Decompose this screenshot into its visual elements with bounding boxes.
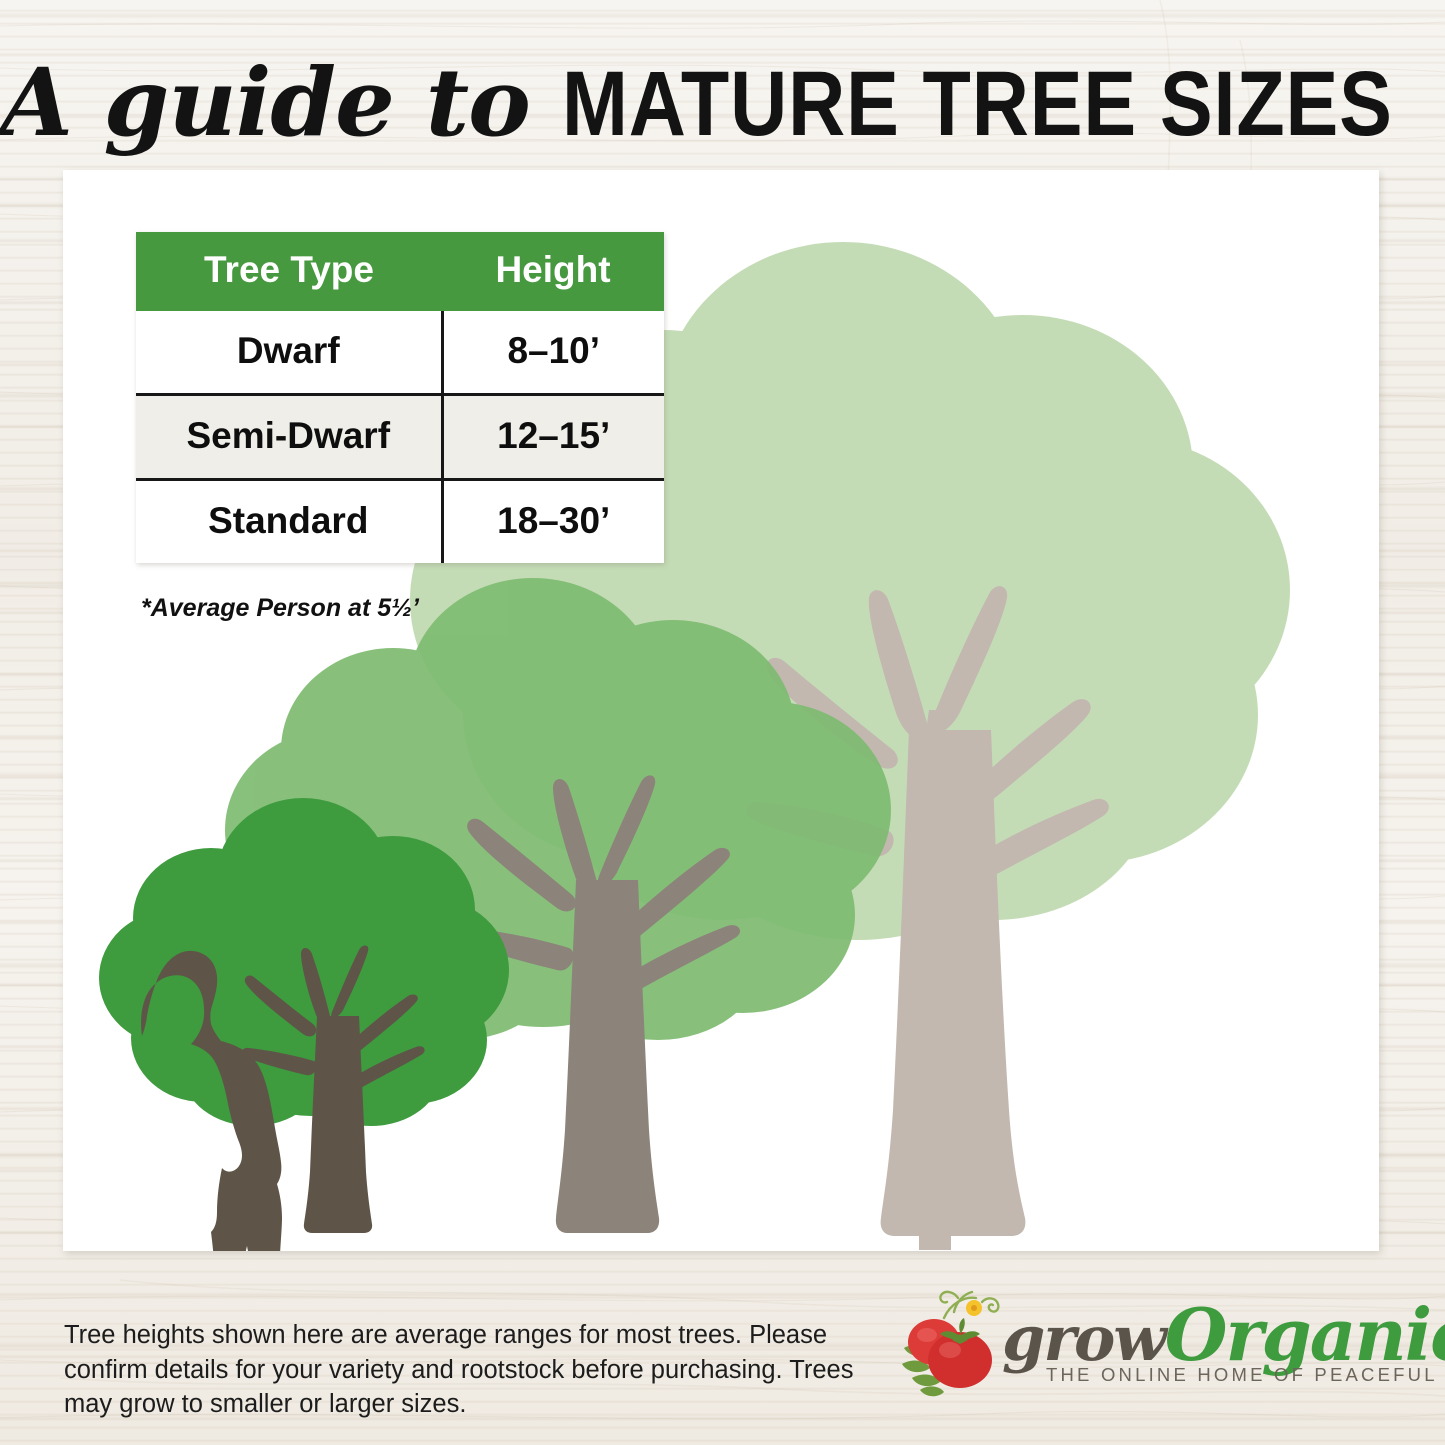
- cell-tree-type-standard: Standard: [136, 480, 442, 564]
- cell-height-semi-dwarf: 12–15’: [442, 395, 664, 480]
- dwarf-tree: [99, 798, 509, 1233]
- table-header-tree-type: Tree Type: [136, 232, 442, 311]
- table-footnote: *Average Person at 5½’: [141, 594, 419, 623]
- table-header-row: Tree Type Height: [136, 232, 664, 311]
- cell-tree-type-semi-dwarf: Semi-Dwarf: [136, 395, 442, 480]
- table-header-height: Height: [442, 232, 664, 311]
- cell-height-dwarf: 8–10’: [442, 311, 664, 395]
- logo-tagline: THE ONLINE HOME OF PEACEFUL VALLEY: [1046, 1364, 1445, 1386]
- table-row: Semi-Dwarf 12–15’: [136, 395, 664, 480]
- flower-icon: [966, 1300, 982, 1316]
- table-row: Dwarf 8–10’: [136, 311, 664, 395]
- cell-height-standard: 18–30’: [442, 480, 664, 564]
- page-title-block: MATURE TREE SIZES: [562, 52, 1393, 157]
- page-title-script: A guide to: [0, 48, 562, 158]
- tomato-icon: [898, 1286, 1008, 1406]
- table-row: Standard 18–30’: [136, 480, 664, 564]
- grow-organic-logo[interactable]: growOrganic.COM THE ONLINE HOME OF PEACE…: [898, 1286, 1398, 1414]
- infographic-card: Tree Type Height Dwarf 8–10’ Semi-Dwarf …: [63, 170, 1379, 1251]
- page-title: A guide to MATURE TREE SIZES: [0, 48, 1445, 168]
- tree-size-table: Tree Type Height Dwarf 8–10’ Semi-Dwarf …: [136, 232, 664, 563]
- cell-tree-type-dwarf: Dwarf: [136, 311, 442, 395]
- footer-disclaimer: Tree heights shown here are average rang…: [64, 1318, 894, 1422]
